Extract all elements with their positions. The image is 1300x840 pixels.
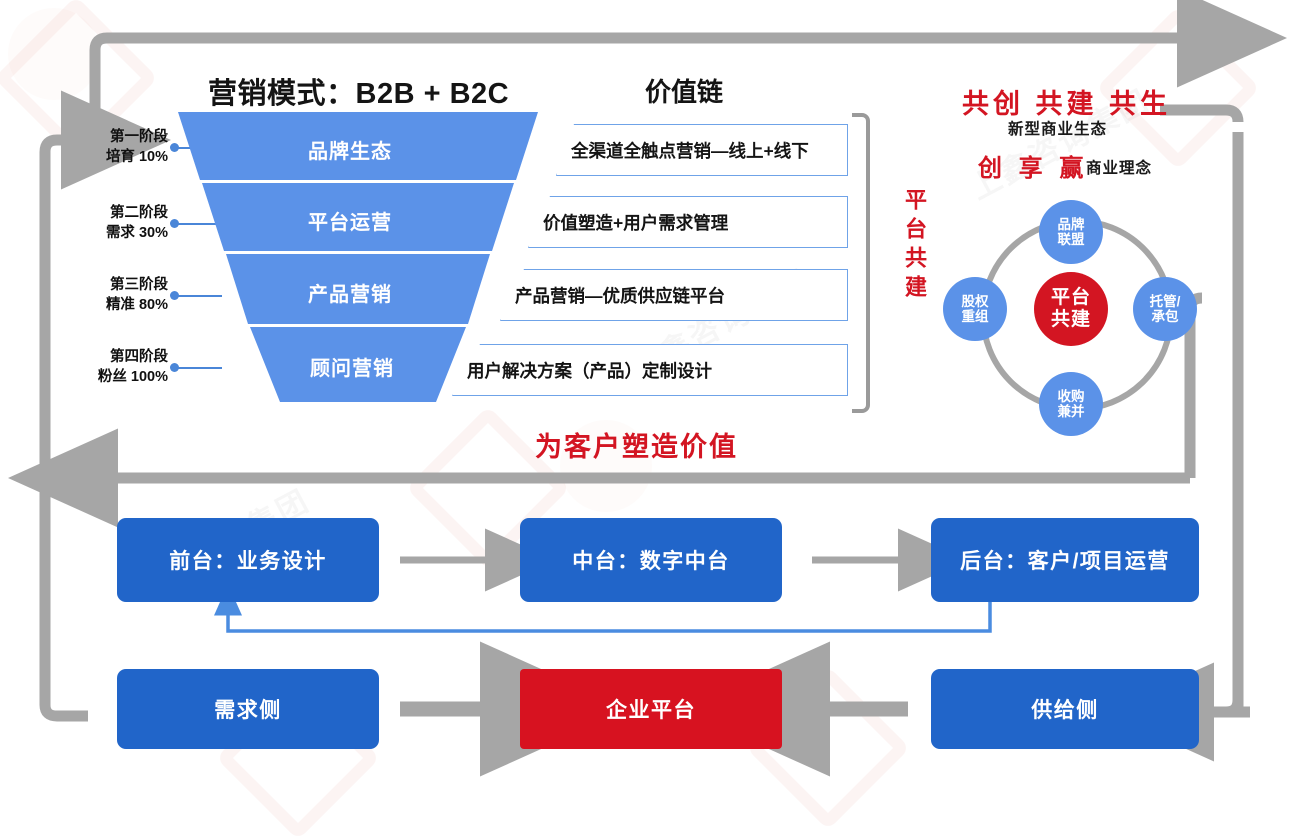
- bottom-box-enterprise-platform[interactable]: 企业平台: [520, 669, 782, 749]
- funnel-stage-label-3: 产品营销: [308, 278, 392, 307]
- bottom-box-supply-side-label: 供给侧: [1031, 694, 1099, 724]
- stage-name-2: 第二阶段: [20, 204, 168, 224]
- ring-node-left-line2: 重组: [962, 309, 989, 324]
- ring-node-center-line2: 共建: [1051, 309, 1091, 331]
- ring-node-top-line2: 联盟: [1058, 232, 1085, 247]
- ring-node-left-line1: 股权: [962, 294, 989, 309]
- page-title-marketing-mode: 营销模式：B2B + B2C: [208, 70, 509, 112]
- funnel-stage-label-1: 品牌生态: [308, 135, 392, 164]
- bottom-box-front-office-label: 前台：业务设计: [169, 545, 327, 575]
- ring-node-bottom[interactable]: 收购 兼并: [1039, 372, 1103, 436]
- stage-metric-4: 粉丝 100%: [20, 368, 168, 388]
- watermark-circle: [8, 8, 100, 100]
- ring-node-bottom-line1: 收购: [1058, 389, 1085, 404]
- slogan-primary: 共创 共建 共生: [962, 82, 1171, 121]
- stage-name-4: 第四阶段: [20, 348, 168, 368]
- bottom-box-front-office[interactable]: 前台：业务设计: [117, 518, 379, 602]
- bottom-box-back-office[interactable]: 后台：客户/项目运营: [931, 518, 1199, 602]
- bottom-box-demand-side[interactable]: 需求侧: [117, 669, 379, 749]
- value-chain-label-4: 用户解决方案（产品）定制设计: [453, 358, 712, 383]
- bottom-box-supply-side[interactable]: 供给侧: [931, 669, 1199, 749]
- slogan-primary-sub: 新型商业生态: [1008, 117, 1107, 139]
- stage-dot-1: [170, 143, 179, 152]
- value-chain-label-1: 全渠道全触点营销—线上+线下: [557, 138, 809, 163]
- stage-dot-4: [170, 363, 179, 372]
- value-chain-label-2: 价值塑造+用户需求管理: [529, 210, 728, 235]
- stage-metric-2: 需求 30%: [20, 224, 168, 244]
- stage-dot-3: [170, 291, 179, 300]
- slogan-secondary-sub: 商业理念: [1086, 156, 1152, 178]
- stage-name-1: 第一阶段: [20, 128, 168, 148]
- vertical-label-platform-cobuild: 平台共建: [903, 188, 925, 304]
- ring-node-bottom-line2: 兼并: [1058, 404, 1085, 419]
- funnel-stage-info-4: 第四阶段 粉丝 100%: [20, 348, 168, 387]
- page-title-value-chain: 价值链: [645, 72, 723, 109]
- ring-node-center[interactable]: 平台 共建: [1034, 272, 1108, 346]
- funnel-stage-label-4: 顾问营销: [310, 352, 394, 381]
- value-chain-bracket: [852, 113, 870, 413]
- diagram-canvas: 上鑫咨询集团 上鑫咨询集团 上鑫咨询集团: [0, 0, 1300, 786]
- bottom-box-demand-side-label: 需求侧: [214, 694, 282, 724]
- value-chain-box-1[interactable]: 全渠道全触点营销—线上+线下: [556, 124, 848, 176]
- ring-node-top-line1: 品牌: [1058, 217, 1085, 232]
- ring-node-right[interactable]: 托管/ 承包: [1133, 277, 1197, 341]
- stage-metric-3: 精准 80%: [20, 296, 168, 316]
- funnel-stage-info-2: 第二阶段 需求 30%: [20, 204, 168, 243]
- value-chain-box-3[interactable]: 产品营销—优质供应链平台: [500, 269, 848, 321]
- bottom-box-middle-office-label: 中台：数字中台: [572, 545, 730, 575]
- stage-metric-1: 培育 10%: [20, 148, 168, 168]
- ring-node-top[interactable]: 品牌 联盟: [1039, 200, 1103, 264]
- funnel-stage-info-1: 第一阶段 培育 10%: [20, 128, 168, 167]
- center-slogan: 为客户塑造价值: [535, 425, 738, 464]
- bottom-box-enterprise-platform-label: 企业平台: [606, 694, 696, 724]
- stage-dot-2: [170, 219, 179, 228]
- value-chain-box-4[interactable]: 用户解决方案（产品）定制设计: [452, 344, 848, 396]
- bottom-box-back-office-label: 后台：客户/项目运营: [960, 545, 1170, 575]
- value-chain-label-3: 产品营销—优质供应链平台: [501, 283, 725, 308]
- ring-node-right-line1: 托管/: [1150, 294, 1181, 309]
- funnel-stage-info-3: 第三阶段 精准 80%: [20, 276, 168, 315]
- value-chain-box-2[interactable]: 价值塑造+用户需求管理: [528, 196, 848, 248]
- ring-node-left[interactable]: 股权 重组: [943, 277, 1007, 341]
- bottom-box-middle-office[interactable]: 中台：数字中台: [520, 518, 782, 602]
- ring-node-center-line1: 平台: [1051, 287, 1091, 309]
- slogan-secondary: 创 享 赢: [978, 148, 1088, 183]
- ring-node-right-line2: 承包: [1152, 309, 1179, 324]
- funnel-stage-label-2: 平台运营: [308, 206, 392, 235]
- stage-name-3: 第三阶段: [20, 276, 168, 296]
